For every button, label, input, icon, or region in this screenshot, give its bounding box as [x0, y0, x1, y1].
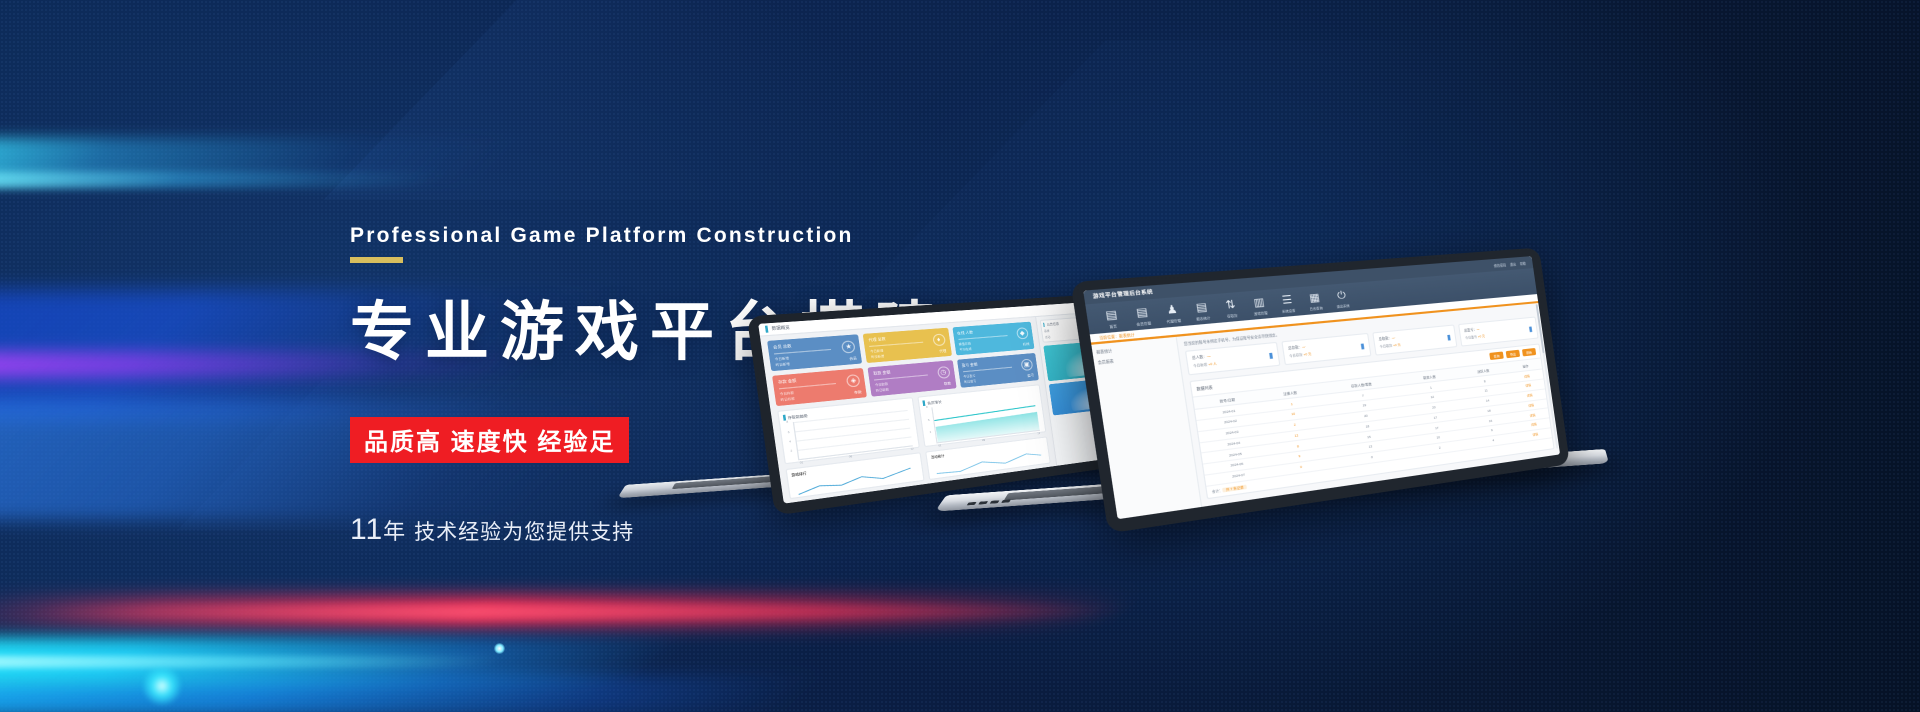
header-accent-bar — [765, 326, 769, 333]
back-dashboard-body: 会员 总数 今日新增 昨日新增 ★ 会员 代理 总数 今日新增 — [760, 317, 1056, 504]
port-icon — [978, 501, 988, 504]
breadcrumb: 当前位置：报表统计 — [1099, 332, 1135, 341]
hero-banner: Professional Game Platform Construction … — [0, 0, 1920, 712]
toolbar-item-games[interactable]: ▥ 游戏管理 — [1244, 295, 1275, 316]
toolbar-item-label: 日志查询 — [1302, 305, 1330, 312]
panel-title: 活动统计 — [931, 454, 945, 460]
toolbar-item-label: 退出系统 — [1329, 302, 1356, 309]
chart-icon: ▮ — [1446, 333, 1451, 342]
rail-accent-bar — [1043, 323, 1045, 327]
stat-sub-value: +0 元 — [1393, 342, 1401, 347]
document-icon: ▤ — [1095, 308, 1128, 324]
stat-sub-value: +0 元 — [1303, 352, 1312, 357]
laptop-front-screen: 游戏平台管理后台系统 修改密码 退出 帮助 ▤ 首页 ▤ — [1083, 256, 1560, 519]
stat-value: — — [1302, 344, 1306, 349]
stat-card[interactable]: 存款 金额 今日存款 昨日存款 ◈ 存款 — [772, 368, 867, 406]
stat-sub-value: +0 人 — [1208, 361, 1217, 366]
stat-value: — — [1207, 354, 1211, 359]
stat-card[interactable]: 代理 总数 今日新增 昨日新增 ♦ 代理 — [863, 328, 952, 363]
glow-dot-large — [142, 666, 182, 706]
stat-card[interactable]: 总人数：— 今日新增 +0 人 ▮ — [1185, 342, 1281, 376]
red-light-streak-core — [24, 606, 1136, 618]
chart-icon: ▮ — [1360, 342, 1365, 351]
chart-panel-area: 会员增长 8 5 2 01 06 12 — [918, 384, 1046, 447]
user-icon: ♟ — [1156, 303, 1188, 319]
admin-system: 游戏平台管理后台系统 修改密码 退出 帮助 ▤ 首页 ▤ — [1083, 256, 1560, 519]
toolbar-item-members[interactable]: ▤ 会员管理 — [1126, 305, 1159, 327]
rail-row-key: 系统 — [1044, 329, 1050, 334]
toolbar-item-label: 系统设置 — [1274, 307, 1302, 314]
port-icon — [1001, 500, 1011, 503]
chart-icon: ▮ — [1268, 351, 1274, 360]
status-badge-label: 品质高 速度快 经验足 — [364, 429, 615, 456]
status-badge: 品质高 速度快 经验足 — [350, 417, 629, 463]
sidebar-item-member-reports[interactable]: 会员报表 — [1097, 352, 1175, 365]
link-change-password[interactable]: 修改密码 — [1493, 262, 1506, 268]
database-icon: ▦ — [1300, 291, 1329, 306]
toolbar-item-reports[interactable]: ▤ 报表统计 — [1186, 300, 1218, 321]
stat-card[interactable]: 总存款：— 今日存款 +0 元 ▮ — [1281, 333, 1371, 365]
grid-icon: ▥ — [1244, 295, 1274, 311]
toolbar-item-home[interactable]: ▤ 首页 — [1095, 308, 1129, 330]
link-help[interactable]: 帮助 — [1519, 260, 1526, 265]
stat-card-corner: 在线 — [1022, 341, 1029, 347]
cyan-light-streak-top-core — [0, 172, 447, 188]
stat-label: 总人数： — [1192, 354, 1208, 360]
rail-title: 公告信息 — [1047, 322, 1060, 327]
stat-card[interactable]: 在线 人数 峰值在线 平均在线 ◆ 在线 — [952, 322, 1034, 356]
toolbar-item-settings[interactable]: ☰ 系统设置 — [1272, 293, 1302, 314]
stat-sub-label: 今日存款 — [1289, 352, 1303, 358]
cyan-light-streak-lower — [0, 676, 821, 712]
hero-eyebrow: Professional Game Platform Construction — [350, 224, 1110, 248]
stat-label: 总盈亏： — [1464, 327, 1477, 332]
laptop-front-lid: 游戏平台管理后台系统 修改密码 退出 帮助 ▤ 首页 ▤ — [1070, 248, 1570, 534]
folder-icon: ▤ — [1126, 305, 1158, 321]
stat-card[interactable]: 盈亏 金额 今日盈亏 昨日盈亏 ▣ 盈亏 — [957, 353, 1039, 388]
plot-area: 8 5 2 01 06 12 — [932, 396, 1040, 443]
port-icon — [989, 500, 999, 503]
toolbar-item-transfers[interactable]: ⇅ 存取款 — [1215, 298, 1247, 319]
table-footer-value: 共 7 条记录 — [1222, 484, 1247, 492]
stat-sub-label: 今日取款 — [1379, 343, 1392, 348]
stat-card[interactable]: 总盈亏：— 今日盈亏 +0 元 ▮ — [1458, 316, 1539, 346]
tagline-text: 技术经验为您提供支持 — [414, 521, 634, 544]
stat-card-corner: 会员 — [849, 355, 857, 361]
stat-sub-label: 今日新增 — [1193, 362, 1208, 368]
stat-card[interactable]: 会员 总数 今日新增 昨日新增 ★ 会员 — [767, 334, 862, 371]
cyan-light-streak-top — [0, 138, 521, 184]
table-footer-label: 合计： — [1212, 488, 1223, 494]
panel-title: 会员增长 — [927, 399, 942, 406]
chart-icon: ▮ — [1528, 325, 1533, 333]
stat-card-corner: 代理 — [939, 348, 947, 354]
tagline-years-unit: 年 — [383, 519, 405, 544]
export-button[interactable]: 导出 — [1506, 350, 1520, 359]
stat-sub-value: +0 元 — [1477, 334, 1485, 339]
admin-content: 您当前的账号未绑定手机号，为保证账号安全请尽快绑定。 总人数：— 今日新增 +0… — [1177, 303, 1560, 507]
panel-title: 存取款趋势 — [787, 412, 808, 420]
clipboard-icon: ▤ — [1186, 300, 1217, 316]
link-logout[interactable]: 退出 — [1509, 261, 1516, 267]
background-facet — [323, 0, 1036, 200]
back-dashboard-title: 数据概览 — [771, 325, 790, 332]
admin-logo: 游戏平台管理后台系统 — [1092, 289, 1153, 301]
red-light-streak — [0, 596, 1136, 626]
stat-value: — — [1476, 327, 1480, 331]
cyan-light-streak-core — [0, 656, 506, 668]
gold-underline-rule — [350, 257, 403, 263]
table-action-buttons: 查询 导出 刷新 — [1489, 348, 1536, 360]
toolbar-item-label: 报表统计 — [1188, 314, 1218, 321]
stat-card-corner: 盈亏 — [1027, 372, 1034, 378]
admin-user-links: 修改密码 退出 帮助 — [1493, 260, 1526, 268]
list-icon: ☰ — [1272, 293, 1302, 308]
rail-row-key: 活动 — [1045, 335, 1051, 340]
toolbar-item-logs[interactable]: ▦ 日志查询 — [1300, 291, 1330, 312]
glow-dot-small — [494, 643, 505, 654]
query-button[interactable]: 查询 — [1489, 351, 1504, 360]
cyan-light-streak-bottom — [0, 638, 685, 686]
power-icon: ⏻ — [1327, 289, 1356, 304]
stat-card[interactable]: 总取款：— 今日取款 +0 元 ▮ — [1372, 324, 1457, 355]
toolbar-item-exit[interactable]: ⏻ 退出系统 — [1327, 289, 1356, 309]
hero-tagline: 11年技术经验为您提供支持 — [350, 513, 1110, 547]
stat-sub-label: 今日盈亏 — [1465, 335, 1477, 340]
toolbar-item-label: 游戏管理 — [1246, 310, 1275, 317]
refresh-button[interactable]: 刷新 — [1522, 348, 1536, 356]
stat-card-corner: 存款 — [854, 389, 862, 395]
area-series — [934, 403, 1040, 443]
stat-card[interactable]: 取款 金额 今日取款 昨日取款 ◷ 取款 — [868, 360, 956, 396]
panel-title: 游戏排行 — [791, 471, 807, 478]
transfer-icon: ⇅ — [1215, 298, 1246, 314]
port-icon — [966, 502, 976, 505]
laptop-front: 游戏平台管理后台系统 修改密码 退出 帮助 ▤ 首页 ▤ — [1140, 246, 1660, 496]
stat-card-corner: 取款 — [944, 380, 952, 386]
stat-value: — — [1392, 336, 1396, 341]
toolbar-item-agents[interactable]: ♟ 代理管理 — [1156, 303, 1189, 325]
stat-label: 总取款： — [1378, 336, 1392, 342]
toolbar-item-label: 存取款 — [1217, 312, 1246, 319]
stat-label: 总存款： — [1288, 345, 1303, 351]
tagline-years-number: 11 — [350, 513, 383, 546]
table-title: 数据列表 — [1196, 384, 1213, 391]
